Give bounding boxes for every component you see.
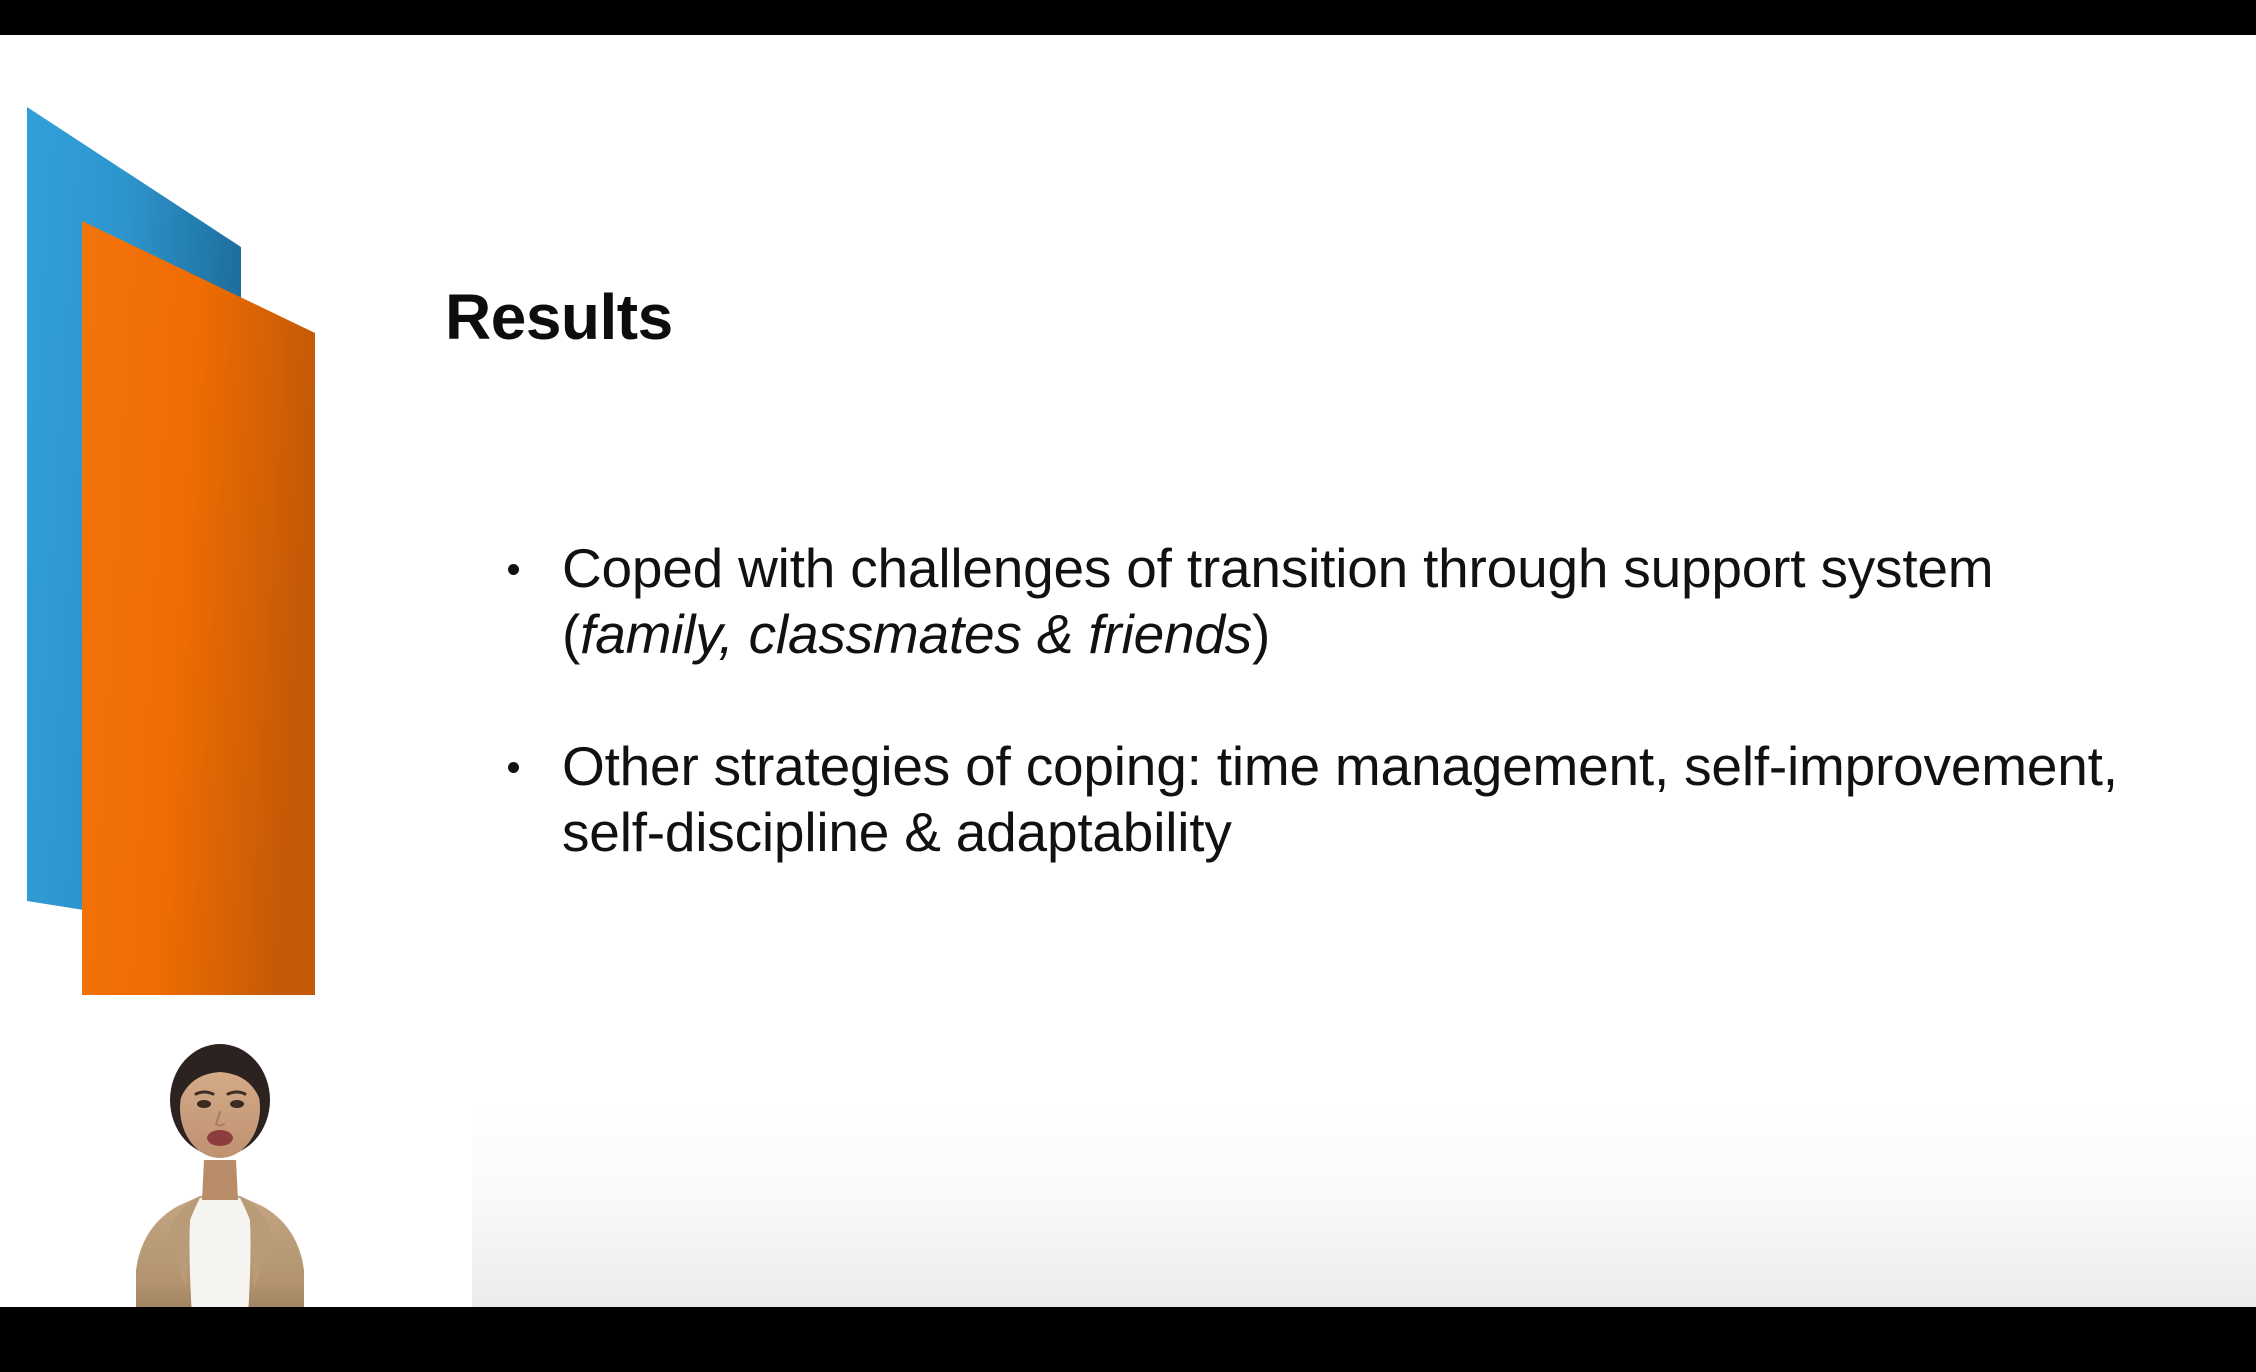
letterbox-bar-bottom	[0, 1307, 2256, 1372]
slide-bullet-list: Coped with challenges of transition thro…	[500, 535, 2120, 865]
bullet-text: Coped with challenges of transition thro…	[562, 537, 1993, 665]
letterbox-bar-top	[0, 0, 2256, 35]
presenter-eye-left	[197, 1100, 211, 1108]
presenter-webcam-overlay	[100, 1020, 340, 1307]
presenter-eye-right	[230, 1100, 244, 1108]
presenter-mouth	[207, 1130, 233, 1146]
bullet-text-segment-emphasis: family, classmates & friends	[580, 603, 1252, 665]
presenter-shirt	[190, 1198, 251, 1307]
decorative-shape-group	[0, 35, 520, 1035]
bullet-text: Other strategies of coping: time managem…	[562, 735, 2118, 863]
presenter-neck	[202, 1160, 238, 1200]
bullet-item-other-strategies: Other strategies of coping: time managem…	[500, 733, 2120, 865]
orange-parallelogram-shape	[82, 221, 315, 995]
bullet-marker-icon	[508, 564, 519, 575]
gradient-footer-band	[472, 1105, 2256, 1307]
bullet-marker-icon	[508, 762, 519, 773]
bullet-text-segment-close: )	[1252, 603, 1270, 665]
slide-title: Results	[445, 285, 673, 349]
presentation-slide: Results Coped with challenges of transit…	[0, 35, 2256, 1307]
blue-parallelogram-shape	[27, 107, 241, 935]
video-player: Results Coped with challenges of transit…	[0, 0, 2256, 1372]
bullet-item-coping-support: Coped with challenges of transition thro…	[500, 535, 2120, 667]
